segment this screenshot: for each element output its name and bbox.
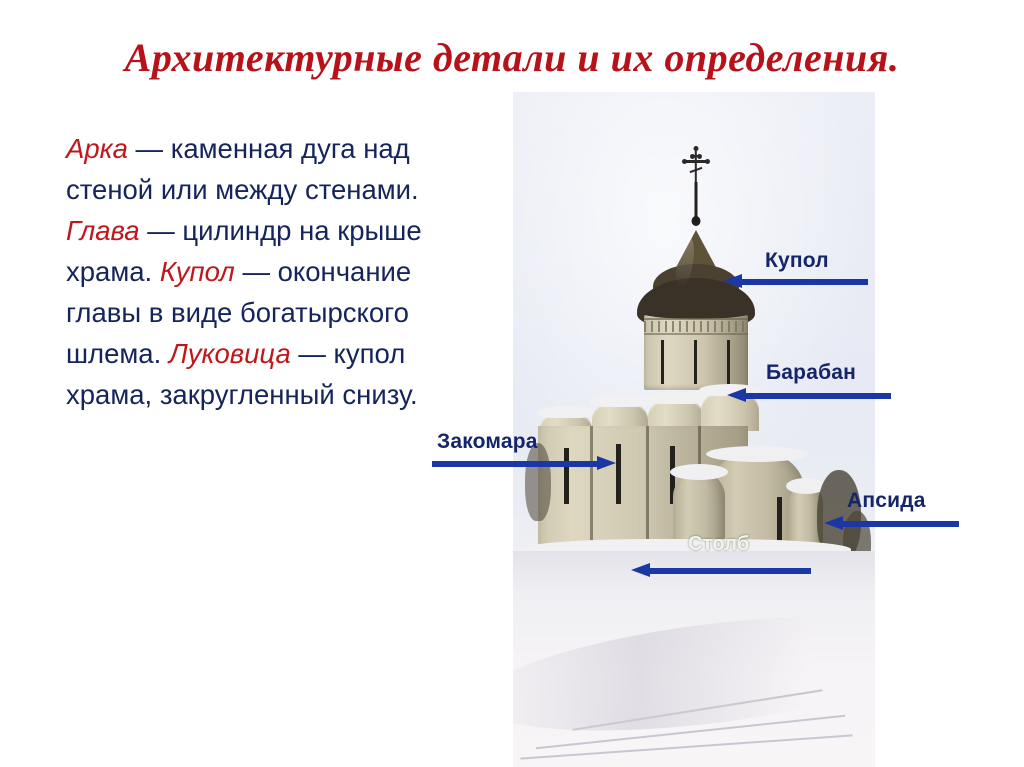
- dash-3: —: [291, 338, 334, 369]
- arrow-zakomara: [432, 459, 616, 468]
- label-zakomara: Закомара: [437, 430, 538, 454]
- term-lukovica: Луковица: [169, 338, 291, 369]
- snow-ground: [513, 551, 875, 767]
- term-arka: Арка: [66, 133, 128, 164]
- label-apsida: Апсида: [847, 489, 926, 513]
- arrow-baraban: [727, 391, 891, 400]
- slide-canvas: Архитектурные детали и их определения. А…: [0, 0, 1024, 767]
- label-stolb: Столб: [688, 533, 750, 556]
- snow-track-1: [535, 715, 845, 749]
- tree-left: [525, 443, 551, 521]
- term-glava: Глава: [66, 215, 140, 246]
- arrow-apsida: [824, 519, 959, 528]
- church-photo: [513, 92, 875, 767]
- dash-0: —: [128, 133, 171, 164]
- label-kupol: Купол: [765, 249, 829, 273]
- snow-track-3: [521, 734, 853, 759]
- arrow-stolb: [631, 566, 811, 575]
- definition-item-arka: Арка — каменная дуга над стеной или межд…: [66, 133, 419, 205]
- definitions-list: Арка — каменная дуга над стеной или межд…: [66, 128, 446, 415]
- snow-track-2: [572, 690, 823, 731]
- cross-icon: [683, 150, 709, 186]
- dome-orb: [691, 216, 700, 226]
- term-kupol: Купол: [160, 256, 235, 287]
- drum-barrel: [644, 312, 748, 390]
- dash-2: —: [235, 256, 278, 287]
- page-title: Архитектурные детали и их определения.: [0, 34, 1024, 81]
- arrow-kupol: [723, 277, 868, 286]
- label-baraban: Барабан: [766, 361, 856, 385]
- dash-1: —: [140, 215, 183, 246]
